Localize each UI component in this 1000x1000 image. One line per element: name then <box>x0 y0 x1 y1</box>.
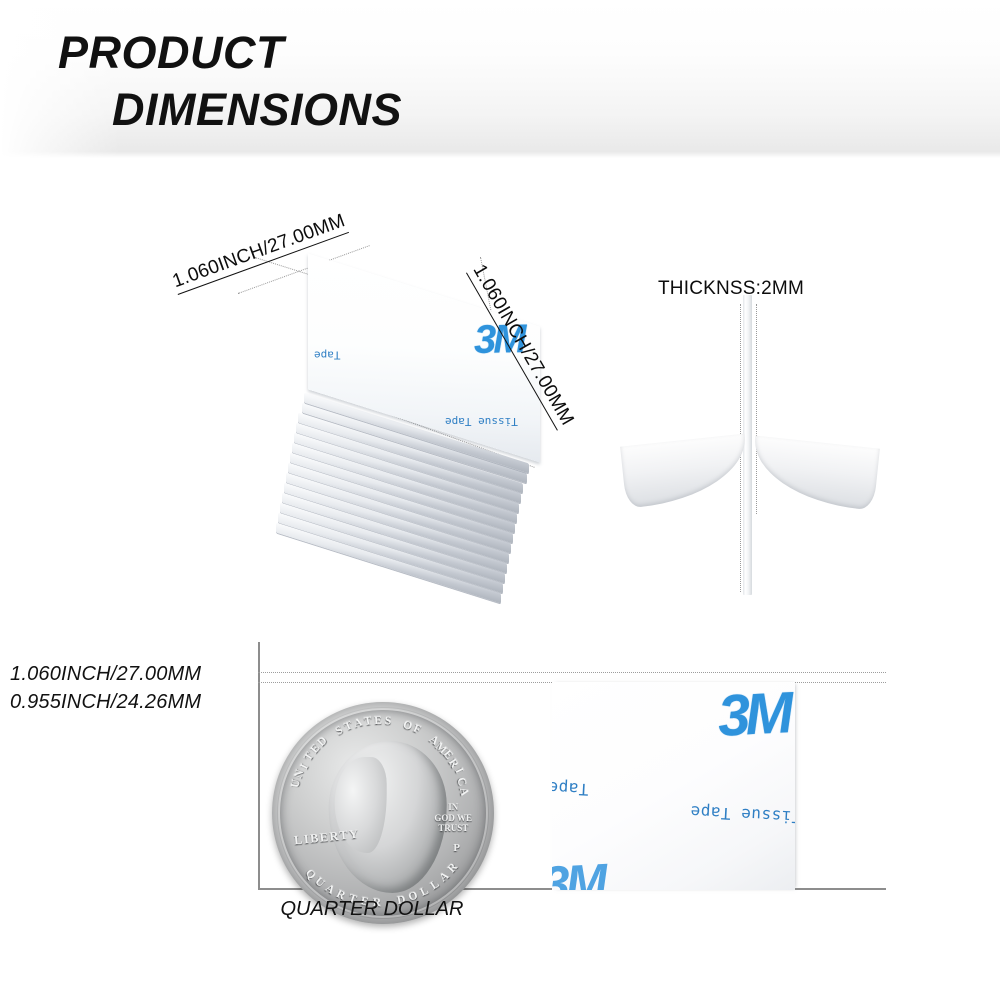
infographic-page: PRODUCT DIMENSIONS 3M <box>0 0 1000 1000</box>
3m-logo-sample-partial: 3M <box>552 852 605 890</box>
quarter-dollar-coin: UNITEDSTATESOFAMERICA QUARTERDOLLAR LIBE… <box>272 702 494 924</box>
thickness-illustration: THICKNSS:2MM <box>640 270 900 600</box>
comparison-label-top: 1.060INCH/27.00MM <box>10 660 260 688</box>
tape-print-sample: Tape <box>552 778 589 799</box>
tissue-tape-print-stack: Tissue Tape <box>445 415 518 428</box>
stack-illustration: 3M Tissue Tape Tape 1.060INCH/27.00MM 1.… <box>180 235 650 575</box>
pad-flap-right <box>749 436 880 511</box>
comparison-labels: 1.060INCH/27.00MM 0.955INCH/24.26MM <box>10 660 260 716</box>
coin-mint-mark: P <box>453 842 460 854</box>
page-title-line2: DIMENSIONS <box>112 85 402 135</box>
comparison-label-bottom: 0.955INCH/24.26MM <box>10 688 260 716</box>
coin-motto-text: INGOD WETRUST <box>434 802 472 834</box>
pad-flap-left <box>620 434 751 509</box>
tape-pad-sample: 3M Tissue Tape Tape 3M <box>552 682 795 890</box>
page-title-line1: PRODUCT <box>58 28 284 78</box>
coin-caption: QUARTER DOLLAR <box>258 898 486 921</box>
page-title: PRODUCT DIMENSIONS <box>0 0 1000 158</box>
thickness-guide-right <box>756 304 757 514</box>
3m-logo-sample: 3M <box>717 682 791 748</box>
thickness-label: THICKNSS:2MM <box>658 278 804 300</box>
tape-print-stack: Tape <box>314 348 341 361</box>
size-comparison-section: 1.060INCH/27.00MM 0.955INCH/24.26MM UNIT… <box>0 620 1000 950</box>
tissue-tape-print-sample: Tissue Tape <box>689 802 795 827</box>
reference-line-27mm <box>258 672 886 673</box>
